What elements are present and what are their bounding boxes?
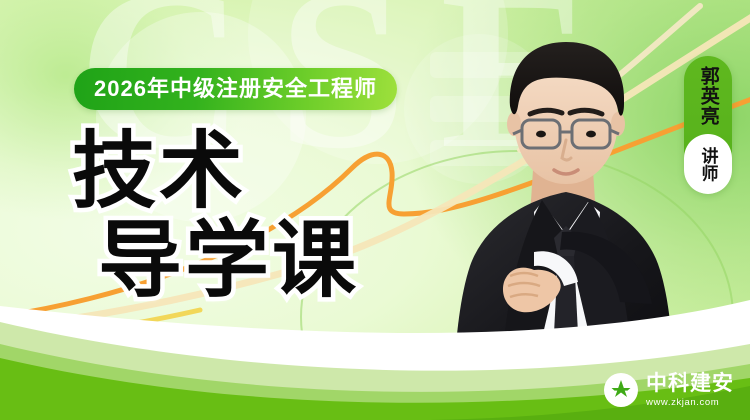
instructor-role-chip: 讲师 <box>684 134 732 194</box>
title-line-1: 技术 <box>72 128 359 215</box>
brand-logo-icon <box>604 373 638 407</box>
course-promo-banner: CSE 2026年中级注册安全工程师 技术 导学课 <box>0 0 750 420</box>
instructor-role: 讲师 <box>698 147 717 182</box>
title-line-2: 导学课 <box>98 217 359 304</box>
subtitle-pill: 2026年中级注册安全工程师 <box>74 68 397 110</box>
instructor-badge: 郭英亮 讲师 <box>684 56 732 194</box>
brand-name: 中科建安 <box>646 373 734 396</box>
page-title: 技术 导学课 <box>72 128 359 305</box>
instructor-name: 郭英亮 <box>697 66 718 134</box>
subtitle-text: 2026年中级注册安全工程师 <box>94 78 377 100</box>
brand-url: www.zkjan.com <box>646 397 734 408</box>
brand-text: 中科建安 www.zkjan.com <box>646 373 734 408</box>
brand-logo: 中科建安 www.zkjan.com <box>604 373 734 408</box>
